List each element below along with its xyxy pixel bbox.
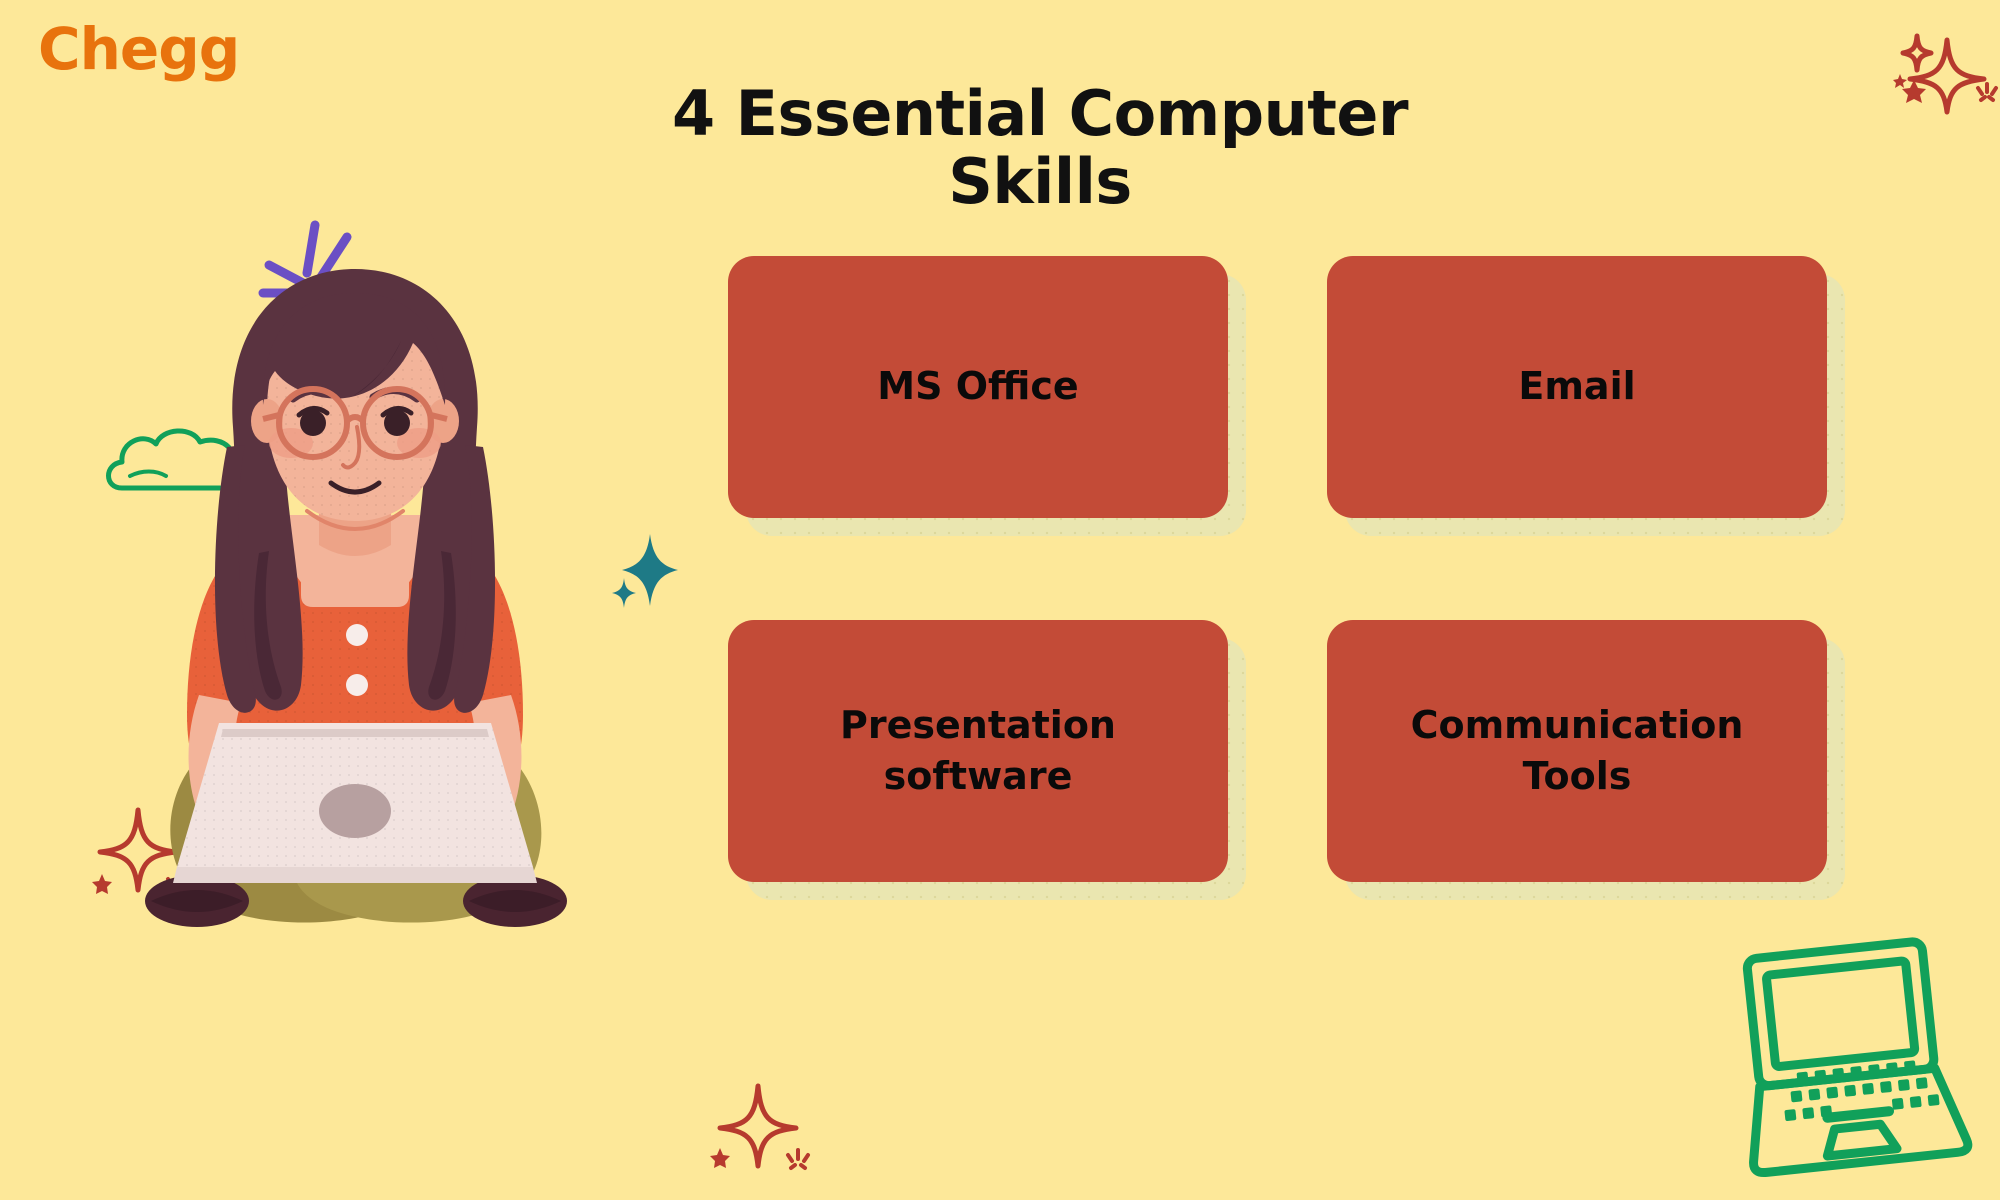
page-title: 4 Essential Computer Skills bbox=[600, 80, 1480, 216]
card-label: Presentation software bbox=[816, 700, 1140, 803]
card-label: Email bbox=[1494, 361, 1659, 412]
card-surface[interactable]: Communication Tools bbox=[1327, 620, 1827, 882]
chegg-logo[interactable]: Chegg bbox=[38, 20, 239, 78]
infographic-canvas: Chegg 4 Essential Computer Skills bbox=[0, 0, 2000, 1200]
teal-sparkle-icon bbox=[610, 530, 680, 610]
card-surface[interactable]: MS Office bbox=[728, 256, 1228, 518]
red-sparkle-cluster-top-right-icon bbox=[1892, 18, 2000, 118]
laptop bbox=[173, 723, 537, 883]
red-sparkle-cluster-bottom-icon bbox=[710, 1080, 820, 1190]
shirt-button bbox=[346, 624, 368, 646]
laptop-logo bbox=[319, 784, 391, 838]
card-label: MS Office bbox=[853, 361, 1102, 412]
woman-with-laptop-illustration bbox=[95, 215, 615, 935]
card-surface[interactable]: Presentation software bbox=[728, 620, 1228, 882]
green-laptop-outline-icon bbox=[1735, 930, 1985, 1180]
skills-card-grid: MS Office Email Presentation software Co… bbox=[728, 256, 1848, 876]
shirt-button bbox=[346, 674, 368, 696]
card-label: Communication Tools bbox=[1387, 700, 1768, 803]
card-surface[interactable]: Email bbox=[1327, 256, 1827, 518]
